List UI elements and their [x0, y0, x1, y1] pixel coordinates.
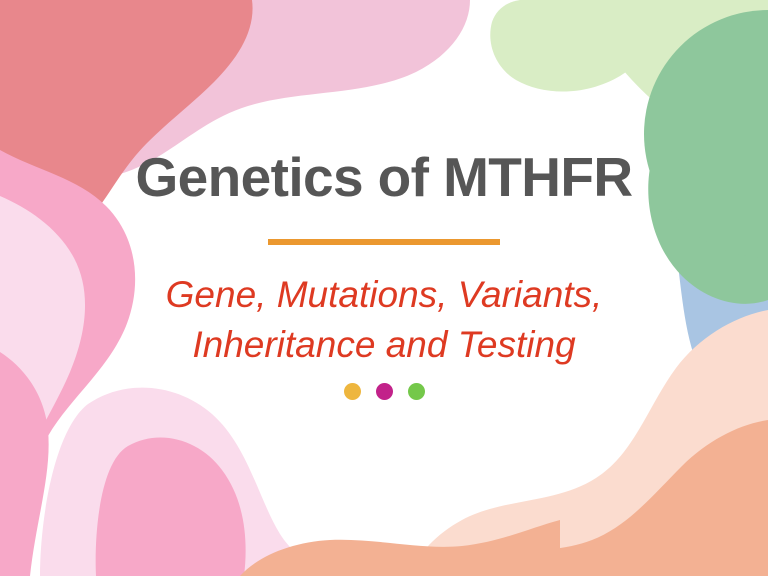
title-divider-rule — [268, 239, 500, 245]
subtitle-line-1: Gene, Mutations, Variants, — [166, 274, 603, 315]
dot-magenta — [376, 383, 393, 400]
slide-subtitle: Gene, Mutations, Variants, Inheritance a… — [84, 270, 684, 370]
dot-amber — [344, 383, 361, 400]
page-title: Genetics of MTHFR — [0, 146, 768, 208]
dot-green — [408, 383, 425, 400]
slide-content: Genetics of MTHFR Gene, Mutations, Varia… — [0, 0, 768, 576]
decorative-dot-row — [0, 383, 768, 400]
title-slide: Genetics of MTHFR Gene, Mutations, Varia… — [0, 0, 768, 576]
subtitle-line-2: Inheritance and Testing — [192, 324, 575, 365]
